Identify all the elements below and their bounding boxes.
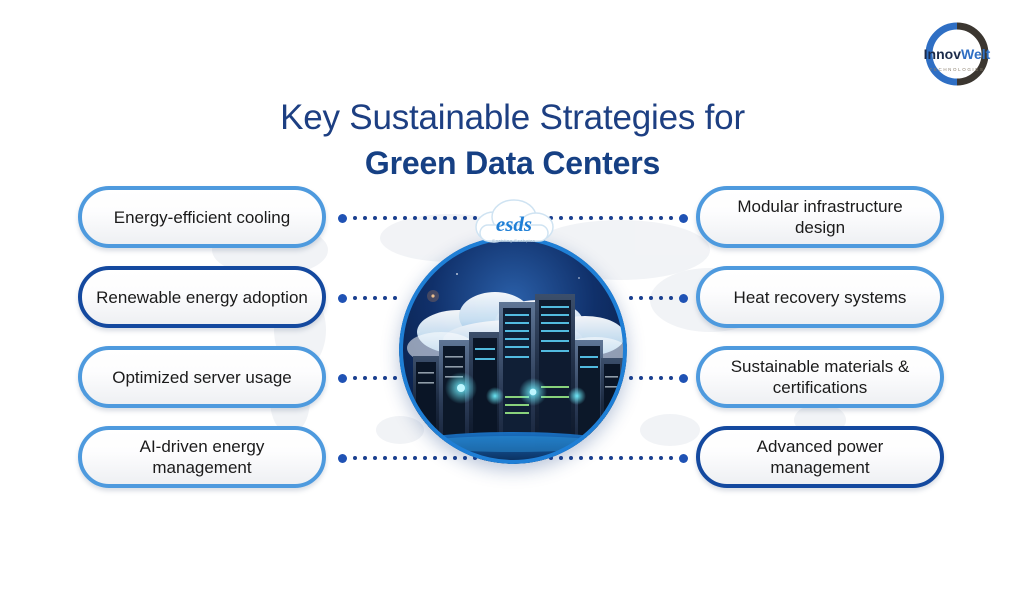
connector-dot [629, 296, 633, 300]
connector-dot [433, 456, 437, 460]
connector-dot [569, 216, 573, 220]
logo-name-part2: Welt [961, 46, 990, 62]
connector-dot [363, 216, 367, 220]
connector-dot [639, 216, 643, 220]
connector-dot [669, 376, 673, 380]
connector-left-4 [338, 452, 468, 464]
connector-dot [373, 456, 377, 460]
connector-dot [383, 376, 387, 380]
connector-dot [679, 374, 688, 383]
strategy-card-advanced-power-management[interactable]: Advanced power management [696, 426, 944, 488]
connector-left-3 [338, 372, 400, 384]
connector-dot [679, 294, 688, 303]
connector-dot [629, 216, 633, 220]
connector-dot [659, 216, 663, 220]
connector-dot [443, 456, 447, 460]
strategy-card-sustainable-materials-certifications[interactable]: Sustainable materials & certifications [696, 346, 944, 408]
connector-dot [639, 456, 643, 460]
connector-dot [629, 456, 633, 460]
connector-dot [659, 296, 663, 300]
connector-dot [338, 214, 347, 223]
connector-dot [609, 216, 613, 220]
connector-dot [393, 216, 397, 220]
connector-dot [649, 216, 653, 220]
card-label: Advanced power management [700, 436, 940, 478]
connector-dot [463, 216, 467, 220]
connector-dot [363, 456, 367, 460]
connector-dot [463, 456, 467, 460]
data-center-hub-image [399, 236, 627, 464]
connector-dot [629, 376, 633, 380]
connector-dot [383, 216, 387, 220]
connector-dot [649, 296, 653, 300]
card-label: Optimized server usage [102, 367, 302, 388]
strategy-card-optimized-server-usage[interactable]: Optimized server usage [78, 346, 326, 408]
connector-dot [639, 296, 643, 300]
connector-dot [338, 454, 347, 463]
connector-dot [353, 296, 357, 300]
esds-logo-text: esds [496, 212, 532, 236]
connector-dot [589, 456, 593, 460]
connector-left-1 [338, 212, 468, 224]
connector-dot [599, 216, 603, 220]
strategy-card-ai-driven-energy-management[interactable]: AI-driven energy management [78, 426, 326, 488]
connector-dot [393, 376, 397, 380]
connector-right-2 [626, 292, 688, 304]
connector-dot [579, 456, 583, 460]
connector-dot [609, 456, 613, 460]
connector-left-2 [338, 292, 400, 304]
strategy-card-modular-infrastructure-design[interactable]: Modular infrastructure design [696, 186, 944, 248]
connector-dot [559, 456, 563, 460]
connector-dot [353, 216, 357, 220]
esds-logo-tagline: Enabling Exabytes [492, 238, 535, 243]
connector-dot [453, 216, 457, 220]
connector-dot [423, 216, 427, 220]
title-line-1: Key Sustainable Strategies for [0, 96, 1025, 140]
connector-dot [569, 456, 573, 460]
connector-dot [413, 456, 417, 460]
page-title: Key Sustainable Strategies for Green Dat… [0, 96, 1025, 184]
connector-right-4 [558, 452, 688, 464]
connector-dot [353, 456, 357, 460]
connector-dot [589, 216, 593, 220]
esds-cloud-logo: esds Enabling Exabytes [468, 197, 560, 253]
connector-dot [383, 296, 387, 300]
card-label: Energy-efficient cooling [104, 207, 300, 228]
connector-dot [373, 376, 377, 380]
connector-dot [373, 216, 377, 220]
connector-dot [383, 456, 387, 460]
strategy-card-energy-efficient-cooling[interactable]: Energy-efficient cooling [78, 186, 326, 248]
connector-dot [669, 216, 673, 220]
connector-dot [338, 374, 347, 383]
connector-dot [649, 456, 653, 460]
card-label: Modular infrastructure design [700, 196, 940, 238]
connector-dot [443, 216, 447, 220]
connector-dot [669, 296, 673, 300]
connector-dot [363, 376, 367, 380]
connector-dot [579, 216, 583, 220]
brand-logo: InnovWelt TECHNOLOGIES [905, 18, 1009, 90]
connector-dot [413, 216, 417, 220]
connector-dot [373, 296, 377, 300]
strategy-card-renewable-energy-adoption[interactable]: Renewable energy adoption [78, 266, 326, 328]
logo-tagline: TECHNOLOGIES [905, 63, 1009, 76]
strategy-card-heat-recovery-systems[interactable]: Heat recovery systems [696, 266, 944, 328]
connector-dot [639, 376, 643, 380]
connector-dot [599, 456, 603, 460]
card-label: Sustainable materials & certifications [700, 356, 940, 398]
logo-name-part1: Innov [924, 46, 961, 62]
connector-dot [659, 376, 663, 380]
card-label: Heat recovery systems [724, 287, 917, 308]
connector-dot [669, 456, 673, 460]
connector-dot [403, 456, 407, 460]
infographic-page: InnovWelt TECHNOLOGIES Key Sustainable S… [0, 0, 1025, 600]
connector-right-1 [558, 212, 688, 224]
connector-dot [393, 296, 397, 300]
connector-dot [353, 376, 357, 380]
connector-dot [338, 294, 347, 303]
connector-dot [659, 456, 663, 460]
connector-right-3 [626, 372, 688, 384]
connector-dot [433, 216, 437, 220]
connector-dot [679, 214, 688, 223]
connector-dot [679, 454, 688, 463]
connector-dot [453, 456, 457, 460]
connector-dot [619, 216, 623, 220]
connector-dot [403, 216, 407, 220]
card-label: Renewable energy adoption [86, 287, 318, 308]
title-line-2: Green Data Centers [0, 142, 1025, 184]
connector-dot [363, 296, 367, 300]
connector-dot [423, 456, 427, 460]
connector-dot [393, 456, 397, 460]
connector-dot [649, 376, 653, 380]
connector-dot [619, 456, 623, 460]
card-label: AI-driven energy management [82, 436, 322, 478]
